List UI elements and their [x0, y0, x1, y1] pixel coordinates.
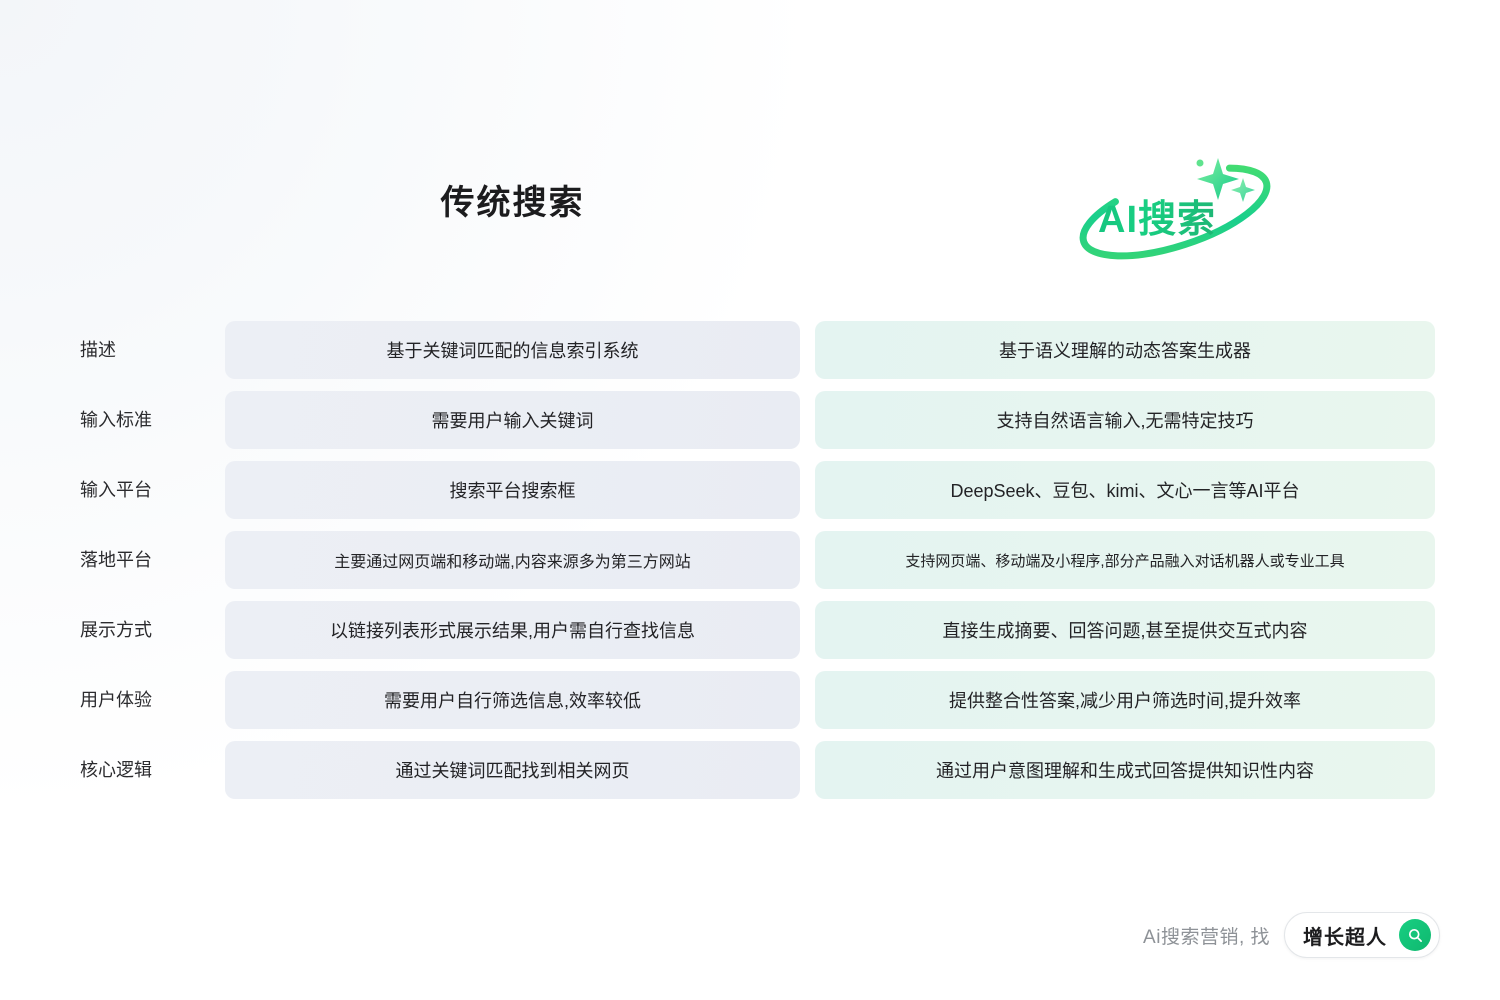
cell-traditional: 搜索平台搜索框	[225, 461, 800, 519]
cell-traditional: 通过关键词匹配找到相关网页	[225, 741, 800, 799]
footer: Ai搜索营销, 找 增长超人	[1143, 912, 1440, 958]
cell-traditional: 基于关键词匹配的信息索引系统	[225, 321, 800, 379]
brand-badge[interactable]: 增长超人	[1284, 912, 1440, 958]
cell-ai: 提供整合性答案,减少用户筛选时间,提升效率	[815, 671, 1435, 729]
ai-search-logo: AI搜索	[1050, 150, 1300, 260]
cell-ai: 支持自然语言输入,无需特定技巧	[815, 391, 1435, 449]
cell-traditional: 主要通过网页端和移动端,内容来源多为第三方网站	[225, 531, 800, 589]
table-row: 描述 基于关键词匹配的信息索引系统 基于语义理解的动态答案生成器	[0, 321, 1500, 379]
cell-traditional: 需要用户自行筛选信息,效率较低	[225, 671, 800, 729]
cell-ai: DeepSeek、豆包、kimi、文心一言等AI平台	[815, 461, 1435, 519]
cell-ai: 通过用户意图理解和生成式回答提供知识性内容	[815, 741, 1435, 799]
search-icon	[1407, 927, 1424, 944]
row-label: 核心逻辑	[80, 741, 220, 799]
row-label: 展示方式	[80, 601, 220, 659]
column-header-traditional-search: 传统搜索	[225, 175, 800, 224]
column-header-ai-search: AI搜索	[1010, 130, 1430, 260]
footer-tagline: Ai搜索营销, 找	[1143, 922, 1270, 949]
cell-ai: 基于语义理解的动态答案生成器	[815, 321, 1435, 379]
brand-name: 增长超人	[1303, 921, 1387, 950]
cell-ai: 支持网页端、移动端及小程序,部分产品融入对话机器人或专业工具	[815, 531, 1435, 589]
row-label: 描述	[80, 321, 220, 379]
search-button[interactable]	[1399, 919, 1431, 951]
table-row: 输入平台 搜索平台搜索框 DeepSeek、豆包、kimi、文心一言等AI平台	[0, 461, 1500, 519]
table-row: 展示方式 以链接列表形式展示结果,用户需自行查找信息 直接生成摘要、回答问题,甚…	[0, 601, 1500, 659]
table-row: 输入标准 需要用户输入关键词 支持自然语言输入,无需特定技巧	[0, 391, 1500, 449]
cell-ai: 直接生成摘要、回答问题,甚至提供交互式内容	[815, 601, 1435, 659]
ai-search-logo-text: AI搜索	[1098, 188, 1216, 243]
cell-traditional: 以链接列表形式展示结果,用户需自行查找信息	[225, 601, 800, 659]
row-label: 用户体验	[80, 671, 220, 729]
row-label: 输入标准	[80, 391, 220, 449]
table-row: 核心逻辑 通过关键词匹配找到相关网页 通过用户意图理解和生成式回答提供知识性内容	[0, 741, 1500, 799]
cell-traditional: 需要用户输入关键词	[225, 391, 800, 449]
table-row: 用户体验 需要用户自行筛选信息,效率较低 提供整合性答案,减少用户筛选时间,提升…	[0, 671, 1500, 729]
row-label: 输入平台	[80, 461, 220, 519]
slide-root: 传统搜索	[0, 0, 1500, 1000]
row-label: 落地平台	[80, 531, 220, 589]
table-row: 落地平台 主要通过网页端和移动端,内容来源多为第三方网站 支持网页端、移动端及小…	[0, 531, 1500, 589]
